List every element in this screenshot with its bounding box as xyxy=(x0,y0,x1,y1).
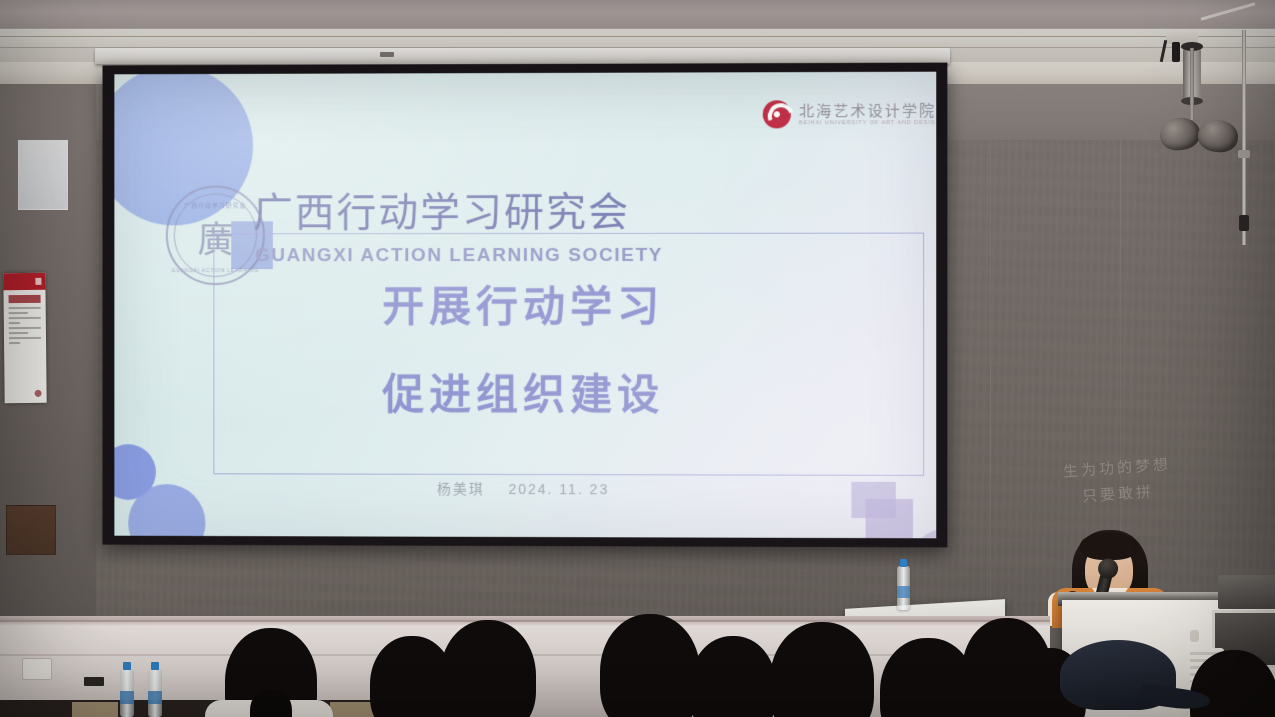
swirl-logo-icon xyxy=(763,100,791,128)
water-bottle xyxy=(120,669,134,717)
decor-square-purple xyxy=(866,499,913,538)
water-bottle xyxy=(897,566,910,610)
slide-title-border xyxy=(213,233,924,476)
school-logo: 北海艺术设计学院 BEIHAI UNIVERSITY OF ART AND DE… xyxy=(763,96,937,139)
water-bottle xyxy=(148,669,162,717)
poster-text-line xyxy=(9,312,28,314)
podium-knob xyxy=(1190,630,1199,642)
projection-screen-roller xyxy=(95,48,950,64)
wall-outlet xyxy=(22,658,52,680)
desk-item xyxy=(330,702,376,717)
poster-text-line xyxy=(9,327,41,329)
society-name-cn: 广西行动学习研究会 xyxy=(253,193,630,233)
poster-header-band xyxy=(3,273,45,290)
roller-bracket xyxy=(380,52,394,57)
audience-head xyxy=(600,614,700,717)
audience-ponytail xyxy=(250,690,292,717)
hanging-rod-joint xyxy=(1239,215,1249,231)
slide-byline: 杨美琪 2024. 11. 23 xyxy=(114,478,936,500)
projected-slide: 广西行动学习研究会 廣 GUANGXI ACTION LEARNING 广西行动… xyxy=(114,72,936,539)
wall-patch xyxy=(6,505,56,555)
wall-poster xyxy=(3,273,46,403)
poster-text-line xyxy=(9,317,41,319)
school-name-en: BEIHAI UNIVERSITY OF ART AND DESIGN xyxy=(799,120,936,126)
spotlight-pole xyxy=(1190,48,1194,120)
desk-item xyxy=(72,702,118,717)
hanging-rod-bracket xyxy=(1238,150,1250,158)
wall-seam xyxy=(990,140,991,620)
ceiling xyxy=(0,0,1275,30)
slide-title-line-2: 促进组织建设 xyxy=(114,361,936,423)
presenter-name: 杨美琪 xyxy=(437,481,485,497)
presentation-date: 2024. 11. 23 xyxy=(508,481,609,497)
poster-text-line xyxy=(9,322,20,324)
hanging-rod xyxy=(1242,30,1246,245)
emblem-ring-top-text: 广西行动学习研究会 xyxy=(184,200,246,209)
wainscot-trim xyxy=(0,620,1050,622)
wall-fixture xyxy=(84,677,104,686)
poster-seal-icon xyxy=(35,390,42,397)
ceiling-rail-line xyxy=(0,36,1275,37)
poster-text-line xyxy=(9,342,20,344)
lecture-hall-photo: 生为功的梦想 只要敢拼 广西行动学习研究会 廣 GUANGXI ACTION L… xyxy=(0,0,1275,717)
poster-text-line xyxy=(9,332,28,334)
school-name-cn: 北海艺术设计学院 xyxy=(799,100,936,121)
wall-paper-sheet xyxy=(18,140,68,210)
poster-text-line xyxy=(9,307,41,309)
decor-circle-right xyxy=(914,529,936,538)
audience-head xyxy=(440,620,536,717)
projection-screen-frame: 广西行动学习研究会 廣 GUANGXI ACTION LEARNING 广西行动… xyxy=(103,63,948,548)
poster-title-bar xyxy=(9,295,41,303)
poster-text-line xyxy=(9,337,41,339)
podium-equipment-box xyxy=(1218,575,1275,609)
slide-title-line-1: 开展行动学习 xyxy=(114,273,936,334)
speaker-fringe xyxy=(1080,532,1138,560)
